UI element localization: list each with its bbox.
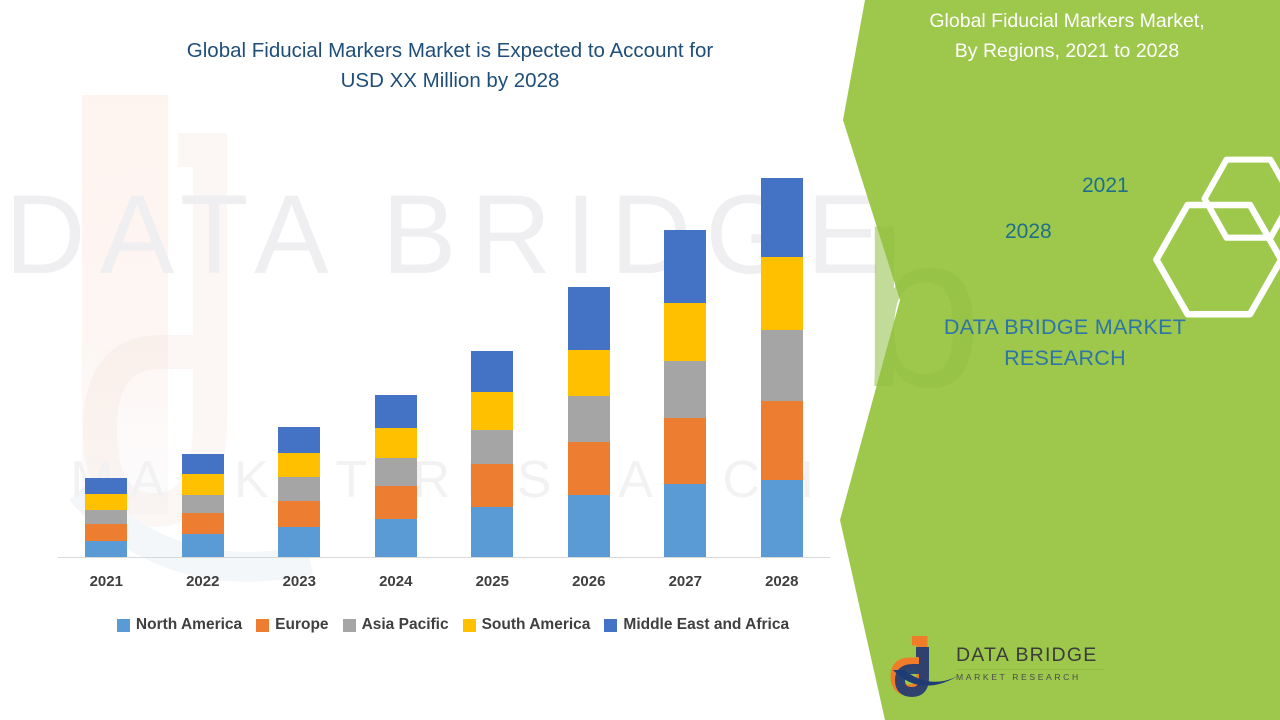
brand-name-line-1: DATA BRIDGE MARKET — [860, 312, 1270, 343]
legend-item[interactable]: Europe — [256, 616, 328, 634]
bar-segment[interactable] — [278, 477, 320, 500]
bar-group[interactable] — [278, 427, 320, 558]
bar-segment[interactable] — [664, 484, 706, 558]
bar-segment[interactable] — [664, 361, 706, 418]
x-axis-label: 2023 — [251, 573, 347, 590]
chart-title-line-1: Global Fiducial Markers Market is Expect… — [70, 36, 830, 66]
bar-segment[interactable] — [568, 495, 610, 558]
legend-label: Middle East and Africa — [623, 616, 789, 634]
bar-segment[interactable] — [85, 541, 127, 558]
hexagon-start-year-label: 2021 — [1082, 174, 1129, 198]
bar-segment[interactable] — [85, 478, 127, 493]
bar-segment[interactable] — [182, 513, 224, 533]
brand-panel: b Global Fiducial Markers Market, By Reg… — [840, 0, 1280, 720]
logo-subtitle: MARKET RESEARCH — [956, 672, 1116, 682]
x-axis-label: 2022 — [155, 573, 251, 590]
bar-segment[interactable] — [761, 330, 803, 401]
legend-swatch — [463, 619, 476, 632]
hexagon-end-year-label: 2028 — [1005, 220, 1052, 244]
legend-swatch — [604, 619, 617, 632]
bar-segment[interactable] — [664, 418, 706, 483]
chart-title: Global Fiducial Markers Market is Expect… — [70, 36, 830, 96]
bar-segment[interactable] — [761, 480, 803, 558]
bar-segment[interactable] — [471, 507, 513, 558]
logo-wordmark: DATA BRIDGE MARKET RESEARCH — [956, 644, 1116, 682]
legend-label: Europe — [275, 616, 328, 634]
brand-panel-title: Global Fiducial Markers Market, By Regio… — [862, 6, 1272, 66]
hexagon-group: 2021 2028 — [840, 140, 1280, 320]
bar-group[interactable] — [761, 178, 803, 558]
bar-segment[interactable] — [375, 458, 417, 486]
x-axis-label: 2025 — [444, 573, 540, 590]
brand-panel-title-line-2: By Regions, 2021 to 2028 — [862, 36, 1272, 66]
legend-label: North America — [136, 616, 242, 634]
legend-item[interactable]: Asia Pacific — [343, 616, 449, 634]
bar-segment[interactable] — [664, 303, 706, 361]
brand-name-text: DATA BRIDGE MARKET RESEARCH — [860, 312, 1270, 374]
bar-segment[interactable] — [761, 257, 803, 329]
bar-segment[interactable] — [471, 430, 513, 465]
bar-segment[interactable] — [761, 178, 803, 258]
legend-item[interactable]: Middle East and Africa — [604, 616, 789, 634]
bar-group[interactable] — [471, 351, 513, 558]
legend-label: Asia Pacific — [362, 616, 449, 634]
bar-segment[interactable] — [471, 464, 513, 507]
bar-segment[interactable] — [182, 454, 224, 474]
bar-group[interactable] — [568, 287, 610, 558]
bar-segment[interactable] — [278, 453, 320, 477]
plot-area — [58, 150, 830, 558]
legend-label: South America — [482, 616, 591, 634]
legend-item[interactable]: South America — [463, 616, 591, 634]
bar-segment[interactable] — [375, 486, 417, 520]
bar-segment[interactable] — [375, 519, 417, 558]
x-axis-label: 2027 — [637, 573, 733, 590]
bar-segment[interactable] — [278, 427, 320, 453]
x-axis-labels: 20212022202320242025202620272028 — [58, 570, 830, 596]
brand-name-line-2: RESEARCH — [860, 343, 1270, 374]
bar-segment[interactable] — [471, 351, 513, 392]
bar-group[interactable] — [85, 478, 127, 558]
bar-segment[interactable] — [471, 392, 513, 430]
legend-item[interactable]: North America — [117, 616, 242, 634]
bar-segment[interactable] — [278, 501, 320, 528]
x-axis-line — [58, 557, 830, 558]
bar-segment[interactable] — [568, 396, 610, 442]
bar-segment[interactable] — [375, 428, 417, 458]
chart-panel: DATA BRIDGE MARKET RESEARCH Global Fiduc… — [0, 0, 900, 720]
bar-segment[interactable] — [568, 350, 610, 396]
chart-legend: North AmericaEuropeAsia PacificSouth Ame… — [58, 616, 848, 634]
logo-divider — [956, 669, 1104, 670]
bar-segment[interactable] — [278, 527, 320, 558]
brand-panel-title-line-1: Global Fiducial Markers Market, — [862, 6, 1272, 36]
bar-group[interactable] — [375, 395, 417, 558]
bar-segment[interactable] — [182, 495, 224, 513]
bar-segment[interactable] — [664, 230, 706, 303]
bar-segment[interactable] — [182, 534, 224, 558]
bar-segment[interactable] — [85, 524, 127, 540]
bar-group[interactable] — [182, 454, 224, 558]
legend-swatch — [117, 619, 130, 632]
bar-segment[interactable] — [568, 287, 610, 350]
legend-swatch — [343, 619, 356, 632]
bar-segment[interactable] — [182, 474, 224, 494]
legend-swatch — [256, 619, 269, 632]
hexagon-start-year — [1205, 160, 1280, 238]
logo-title: DATA BRIDGE — [956, 644, 1116, 667]
x-axis-label: 2028 — [734, 573, 830, 590]
chart-title-line-2: USD XX Million by 2028 — [70, 66, 830, 96]
bar-segment[interactable] — [568, 442, 610, 495]
bar-segment[interactable] — [375, 395, 417, 429]
bar-segment[interactable] — [761, 401, 803, 481]
x-axis-label: 2021 — [58, 573, 154, 590]
x-axis-label: 2026 — [541, 573, 637, 590]
x-axis-label: 2024 — [348, 573, 444, 590]
bar-segment[interactable] — [85, 510, 127, 524]
bar-segment[interactable] — [85, 494, 127, 510]
bar-group[interactable] — [664, 230, 706, 558]
